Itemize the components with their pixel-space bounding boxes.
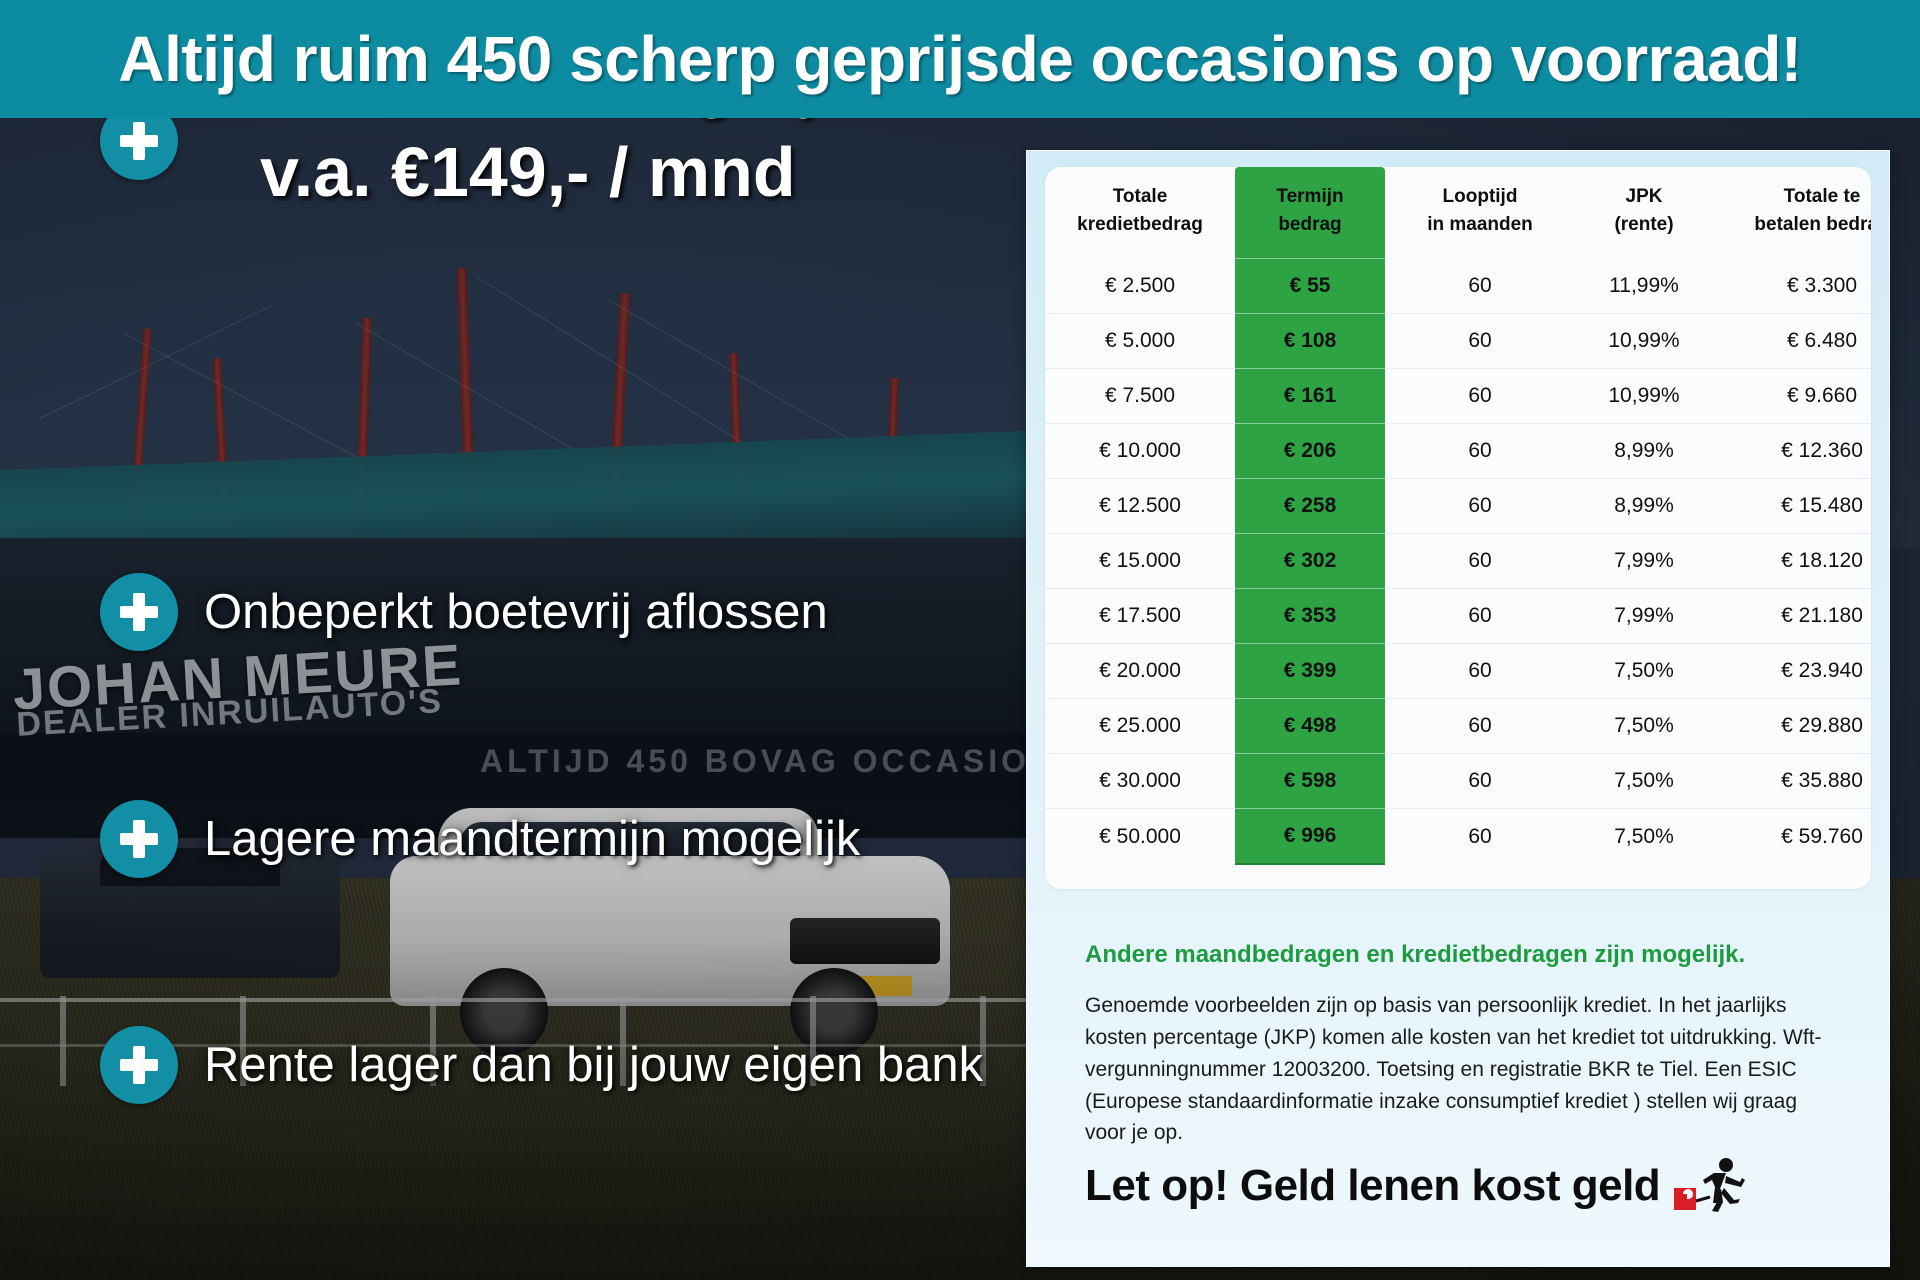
cell-credit-amount: € 10.000 xyxy=(1045,424,1235,479)
feature-list: Onbeperkt boetevrij aflossen Lagere maan… xyxy=(0,118,1030,1280)
cell-apr: 7,50% xyxy=(1575,644,1713,699)
column-header-credit-amount: Totale kredietbedrag xyxy=(1045,167,1235,259)
plus-circle-icon xyxy=(100,800,178,878)
cell-monthly-payment: € 399 xyxy=(1235,644,1385,699)
disclaimer-body: Genoemde voorbeelden zijn op basis van p… xyxy=(1085,990,1829,1150)
header-line: in maanden xyxy=(1389,211,1571,239)
plus-circle-icon xyxy=(100,573,178,651)
cell-apr: 7,50% xyxy=(1575,754,1713,809)
cell-total-repayable: € 15.480 xyxy=(1713,479,1871,534)
cell-total-repayable: € 12.360 xyxy=(1713,424,1871,479)
cell-term: 60 xyxy=(1385,534,1575,589)
cell-monthly-payment: € 55 xyxy=(1235,259,1385,314)
cell-apr: 8,99% xyxy=(1575,424,1713,479)
cell-term: 60 xyxy=(1385,589,1575,644)
feature-item-3: Rente lager dan bij jouw eigen bank xyxy=(100,1026,983,1104)
cell-total-repayable: € 18.120 xyxy=(1713,534,1871,589)
top-banner: Altijd ruim 450 scherp geprijsde occasio… xyxy=(0,0,1920,118)
header-line: Looptijd xyxy=(1389,183,1571,211)
cell-total-repayable: € 35.880 xyxy=(1713,754,1871,809)
table-row: € 30.000€ 598607,50%€ 35.880 xyxy=(1045,754,1871,809)
table-row: € 17.500€ 353607,99%€ 21.180 xyxy=(1045,589,1871,644)
cell-monthly-payment: € 353 xyxy=(1235,589,1385,644)
advertisement-banner: Altijd ruim 450 scherp geprijsde occasio… xyxy=(0,0,1920,1280)
table-row: € 7.500€ 1616010,99%€ 9.660 xyxy=(1045,369,1871,424)
cell-total-repayable: € 59.760 xyxy=(1713,809,1871,865)
cell-apr: 7,99% xyxy=(1575,589,1713,644)
cell-total-repayable: € 23.940 xyxy=(1713,644,1871,699)
credit-warning: Let op! Geld lenen kost geld xyxy=(1085,1156,1845,1216)
cell-total-repayable: € 9.660 xyxy=(1713,369,1871,424)
header-line: JPK xyxy=(1579,183,1709,211)
cell-apr: 11,99% xyxy=(1575,259,1713,314)
cell-term: 60 xyxy=(1385,754,1575,809)
table-row: € 2.500€ 556011,99%€ 3.300 xyxy=(1045,259,1871,314)
feature-label: Lagere maandtermijn mogelijk xyxy=(204,811,860,867)
header-line: kredietbedrag xyxy=(1049,211,1231,239)
cell-term: 60 xyxy=(1385,479,1575,534)
table-row: € 5.000€ 1086010,99%€ 6.480 xyxy=(1045,314,1871,369)
table-row: € 20.000€ 399607,50%€ 23.940 xyxy=(1045,644,1871,699)
cell-apr: 10,99% xyxy=(1575,314,1713,369)
cell-term: 60 xyxy=(1385,259,1575,314)
cell-credit-amount: € 12.500 xyxy=(1045,479,1235,534)
cell-credit-amount: € 30.000 xyxy=(1045,754,1235,809)
cell-credit-amount: € 15.000 xyxy=(1045,534,1235,589)
banner-headline: Altijd ruim 450 scherp geprijsde occasio… xyxy=(118,22,1801,96)
cell-monthly-payment: € 206 xyxy=(1235,424,1385,479)
cell-credit-amount: € 2.500 xyxy=(1045,259,1235,314)
walking-figure-dragging-weight-icon xyxy=(1674,1156,1750,1216)
feature-label: Onbeperkt boetevrij aflossen xyxy=(204,584,828,640)
cell-apr: 7,50% xyxy=(1575,699,1713,754)
table-row: € 25.000€ 498607,50%€ 29.880 xyxy=(1045,699,1871,754)
column-header-monthly-payment: Termijn bedrag xyxy=(1235,167,1385,259)
table-header-row: Totale kredietbedrag Termijn bedrag Loop… xyxy=(1045,167,1871,259)
cell-monthly-payment: € 996 xyxy=(1235,809,1385,865)
plus-circle-icon xyxy=(100,1026,178,1104)
cell-term: 60 xyxy=(1385,369,1575,424)
cell-apr: 7,99% xyxy=(1575,534,1713,589)
cell-total-repayable: € 21.180 xyxy=(1713,589,1871,644)
table-body: € 2.500€ 556011,99%€ 3.300€ 5.000€ 10860… xyxy=(1045,259,1871,865)
cell-apr: 8,99% xyxy=(1575,479,1713,534)
financing-rate-table: Totale kredietbedrag Termijn bedrag Loop… xyxy=(1045,167,1871,865)
cell-total-repayable: € 6.480 xyxy=(1713,314,1871,369)
header-line: (rente) xyxy=(1579,211,1709,239)
feature-item-1: Onbeperkt boetevrij aflossen xyxy=(100,573,828,651)
cell-credit-amount: € 20.000 xyxy=(1045,644,1235,699)
cell-monthly-payment: € 258 xyxy=(1235,479,1385,534)
column-header-term: Looptijd in maanden xyxy=(1385,167,1575,259)
cell-credit-amount: € 5.000 xyxy=(1045,314,1235,369)
column-header-apr: JPK (rente) xyxy=(1575,167,1713,259)
cell-monthly-payment: € 108 xyxy=(1235,314,1385,369)
cell-credit-amount: € 25.000 xyxy=(1045,699,1235,754)
cell-monthly-payment: € 161 xyxy=(1235,369,1385,424)
cell-term: 60 xyxy=(1385,424,1575,479)
table-row: € 12.500€ 258608,99%€ 15.480 xyxy=(1045,479,1871,534)
cell-total-repayable: € 3.300 xyxy=(1713,259,1871,314)
feature-item-2: Lagere maandtermijn mogelijk xyxy=(100,800,860,878)
header-line: Termijn xyxy=(1239,183,1381,211)
cell-term: 60 xyxy=(1385,699,1575,754)
financing-info-panel: Totale kredietbedrag Termijn bedrag Loop… xyxy=(1026,150,1890,1267)
cell-term: 60 xyxy=(1385,314,1575,369)
column-header-total-repayable: Totale te betalen bedrag xyxy=(1713,167,1871,259)
header-line: betalen bedrag xyxy=(1717,211,1871,239)
disclaimer-title: Andere maandbedragen en kredietbedragen … xyxy=(1085,941,1829,970)
cell-monthly-payment: € 598 xyxy=(1235,754,1385,809)
cell-term: 60 xyxy=(1385,644,1575,699)
cell-credit-amount: € 50.000 xyxy=(1045,809,1235,865)
cell-credit-amount: € 7.500 xyxy=(1045,369,1235,424)
disclaimer-block: Andere maandbedragen en kredietbedragen … xyxy=(1085,941,1829,1149)
table-row: € 15.000€ 302607,99%€ 18.120 xyxy=(1045,534,1871,589)
cell-credit-amount: € 17.500 xyxy=(1045,589,1235,644)
header-line: Totale xyxy=(1049,183,1231,211)
cell-monthly-payment: € 498 xyxy=(1235,699,1385,754)
cell-term: 60 xyxy=(1385,809,1575,865)
credit-warning-text: Let op! Geld lenen kost geld xyxy=(1085,1161,1660,1211)
rate-table-card: Totale kredietbedrag Termijn bedrag Loop… xyxy=(1045,167,1871,889)
cell-apr: 7,50% xyxy=(1575,809,1713,865)
table-row: € 10.000€ 206608,99%€ 12.360 xyxy=(1045,424,1871,479)
cell-monthly-payment: € 302 xyxy=(1235,534,1385,589)
header-line: bedrag xyxy=(1239,211,1381,239)
feature-label: Rente lager dan bij jouw eigen bank xyxy=(204,1037,983,1093)
table-row: € 50.000€ 996607,50%€ 59.760 xyxy=(1045,809,1871,865)
header-line: Totale te xyxy=(1717,183,1871,211)
cell-apr: 10,99% xyxy=(1575,369,1713,424)
cell-total-repayable: € 29.880 xyxy=(1713,699,1871,754)
headline-line-2: v.a. €149,- / mnd xyxy=(260,132,796,212)
